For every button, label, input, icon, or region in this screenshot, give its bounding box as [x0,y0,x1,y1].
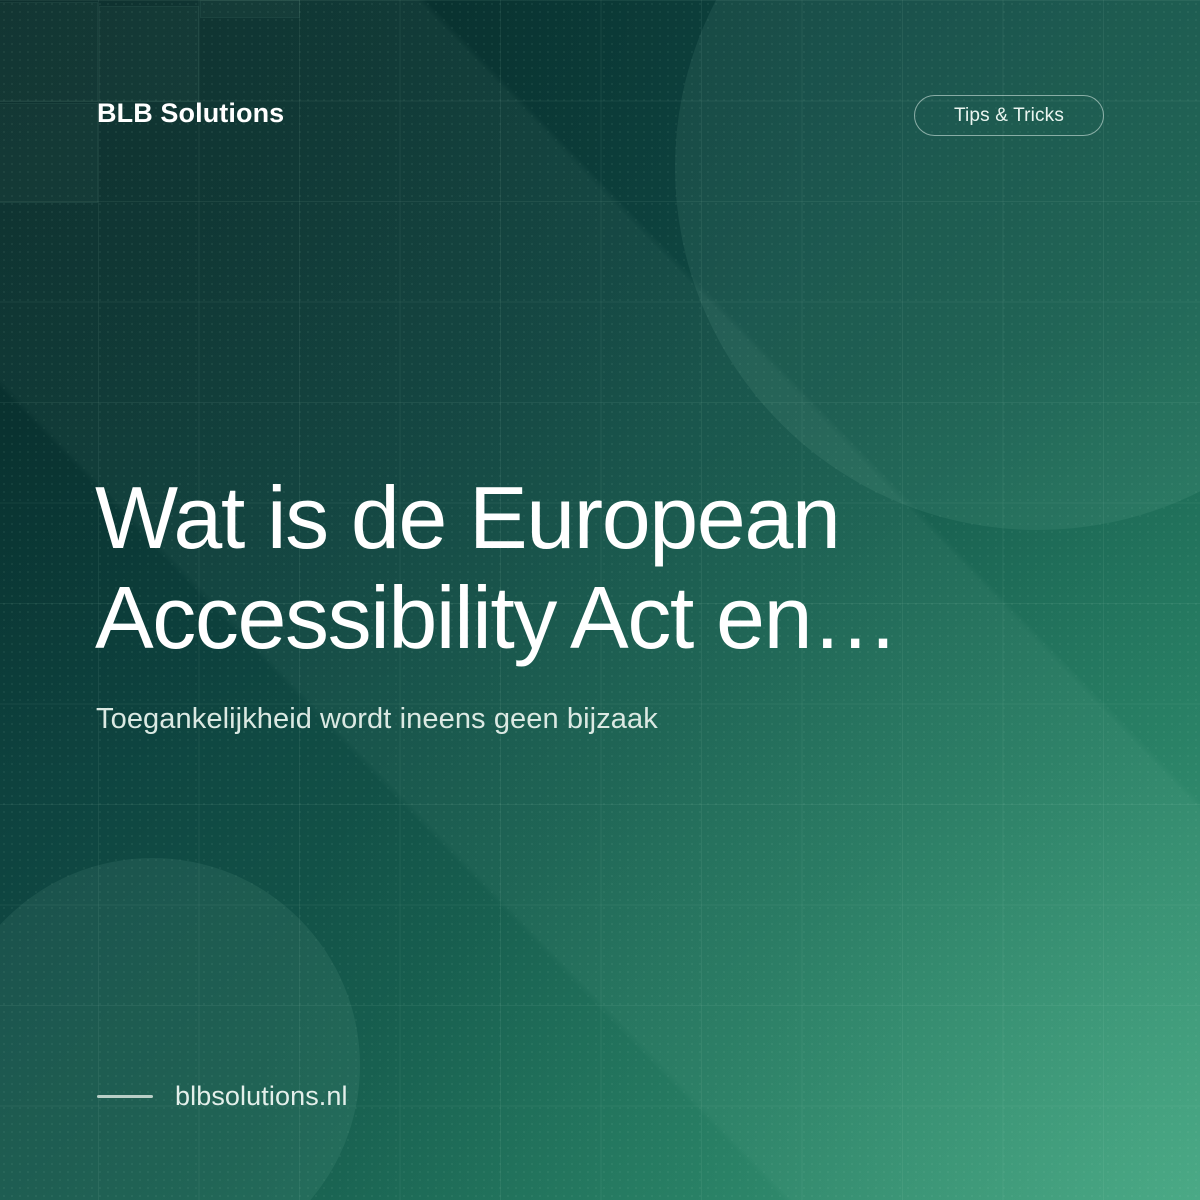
footer-website-url[interactable]: blbsolutions.nl [175,1081,348,1112]
card-content: BLB Solutions Tips & Tricks Wat is de Eu… [0,0,1200,1200]
social-card: BLB Solutions Tips & Tricks Wat is de Eu… [0,0,1200,1200]
subtitle-text-b: wordt ineens geen bijzaak [320,703,658,735]
footer-rule-icon [97,1095,153,1098]
category-badge[interactable]: Tips & Tricks [914,95,1104,136]
headline-line-1: Wat is de European [95,468,1095,568]
headline-line-2: AccessibilityAct en… [95,568,1095,668]
headline-line-1-text: Wat is de European [95,468,839,567]
page-subtitle: Toegankelijkheidwordt ineens geen bijzaa… [96,703,658,736]
headline-line-2-text-a: Accessibility [95,568,556,667]
category-badge-label: Tips & Tricks [954,105,1064,127]
footer: blbsolutions.nl [97,1081,348,1112]
brand-title: BLB Solutions [97,98,284,129]
subtitle-text-a: Toegankelijkheid [96,703,312,735]
headline-line-2-text-b: Act en… [570,568,898,667]
page-title: Wat is de European AccessibilityAct en… [95,468,1095,668]
